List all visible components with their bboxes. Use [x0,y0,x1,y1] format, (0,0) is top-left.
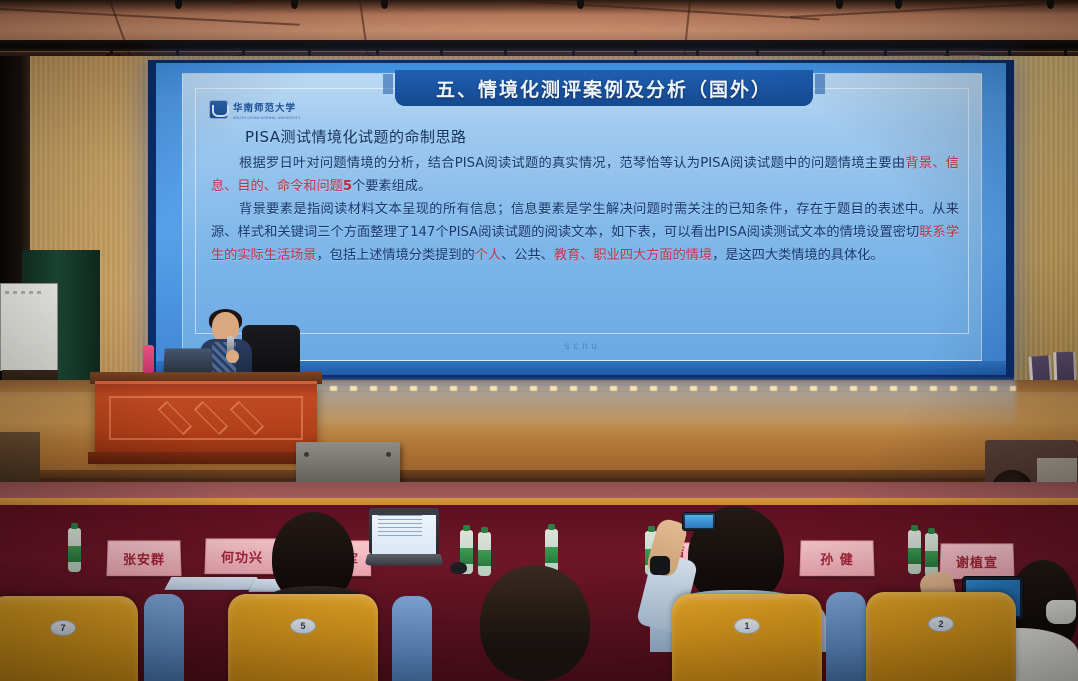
truss-hanger [291,0,298,9]
water-bottle [908,530,921,574]
truss-hanger [577,0,584,9]
theater-seat: 5 [228,594,378,681]
p2-highlight-2: 个人 [475,248,501,263]
slide-paragraph-2: 背景要素是指阅读材料文本呈现的所有信息；信息要素是学生解决问题时需关注的已知条件… [211,198,959,267]
presenter-hand [226,350,239,363]
podium-laptop [163,348,212,372]
podium-base [88,452,324,464]
laptop [366,508,442,570]
seat-number: 2 [928,616,954,632]
p1-lead: 根据罗日叶对问题情境的分析，结合PISA阅读试题的真实情况，范琴怡等认为PISA… [239,156,905,171]
slide-watermark: scnu [183,341,981,352]
seat-number: 7 [50,620,76,636]
nameplate: 孙 健 [799,540,874,576]
slide-body: PISA测试情境化试题的命制思路 根据罗日叶对问题情境的分析，结合PISA阅读试… [211,126,959,267]
nameplate: 张安群 [106,540,181,576]
smartwatch [650,556,670,575]
truss-hanger [1047,0,1054,9]
theater-seat: 2 [866,592,1016,681]
p2-part2: ，包括上述情境分类提到的 [317,248,475,263]
face-mask [1046,600,1076,624]
p2-highlight-3: 教育、职业四大方面的情境 [554,248,712,263]
university-name-en: SOUTH CHINA NORMAL UNIVERSITY [233,116,301,120]
p2-part4: ，是这四大类情境的具体化。 [712,248,883,263]
slide-title-bar: 五、情境化测评案例及分析（国外） [395,70,813,106]
p1-tail: 个要素组成。 [352,179,431,194]
whiteboard [0,283,58,371]
seat-number: 1 [734,618,760,634]
presenter-head [212,312,239,342]
p1-highlight-2: 5 [343,179,352,194]
slide-paragraph-1: 根据罗日叶对问题情境的分析，结合PISA阅读试题的真实情况，范琴怡等认为PISA… [211,152,959,198]
water-bottle [925,533,938,577]
university-name-cn: 华南师范大学 [233,103,296,114]
documents [164,577,263,590]
theater-seat: 1 [672,594,822,681]
audience-head [480,565,590,681]
theater-seat-divider [392,596,432,681]
computer-mouse [450,562,467,574]
presentation-slide: 五、情境化测评案例及分析（国外） 华南师范大学 SOUTH CHINA NORM… [182,73,982,361]
theater-seat: 7 [0,596,138,681]
nameplate: 何功兴 [204,538,279,574]
theater-seat-divider [144,594,184,681]
truss-hanger [836,0,843,9]
slide-title: 五、情境化测评案例及分析（国外） [436,75,772,102]
nameplate: 谢植宣 [939,543,1014,579]
podium-panel [109,396,303,440]
smartphone [682,512,716,531]
university-logo: 华南师范大学 SOUTH CHINA NORMAL UNIVERSITY [209,98,321,120]
university-crest-icon [209,100,228,119]
truss-hanger [895,0,902,9]
seat-number: 5 [290,618,316,634]
theater-seat-divider [826,592,866,681]
p2-part1: 背景要素是指阅读材料文本呈现的所有信息；信息要素是学生解决问题时需关注的已知条件… [211,202,959,240]
p2-part3: 、公共、 [501,248,554,263]
auditorium-photo: 五、情境化测评案例及分析（国外） 华南师范大学 SOUTH CHINA NORM… [0,0,1078,681]
water-bottle [478,532,491,576]
podium [95,381,317,456]
water-bottle [68,528,81,572]
slide-subheading: PISA测试情境化试题的命制思路 [245,126,959,149]
lighting-truss [0,40,1078,51]
truss-hanger [175,0,182,9]
truss-hanger [381,0,388,9]
thermos-cup [143,345,154,373]
